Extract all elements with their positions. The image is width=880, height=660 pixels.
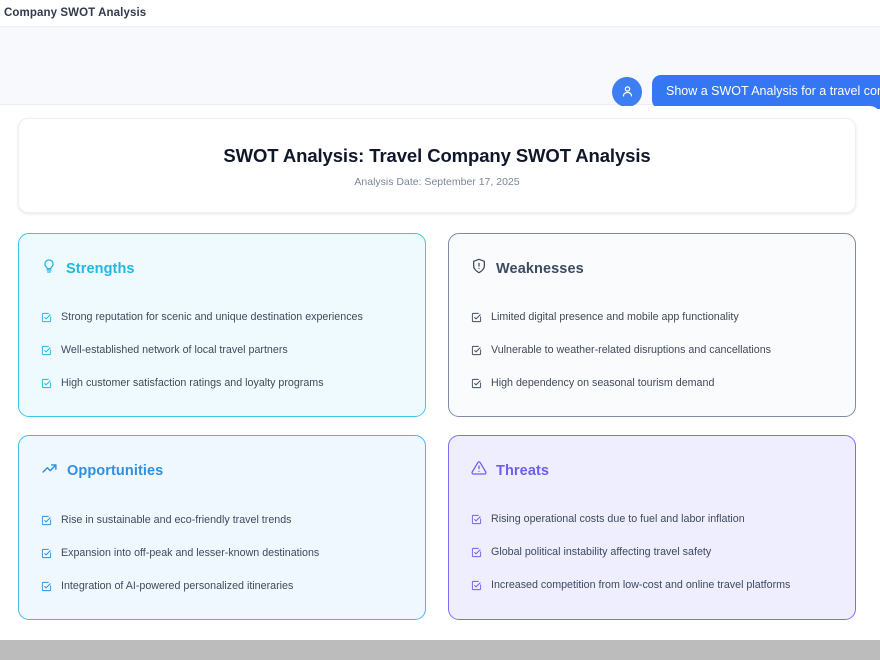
report-date: Analysis Date: September 17, 2025 [39,176,835,188]
quadrant-threats: Threats Rising operational costs due to … [448,435,856,620]
quadrant-header: Opportunities [41,460,403,482]
list-item: Well-established network of local travel… [41,342,403,361]
list-item-text: Integration of AI-powered personalized i… [61,578,293,593]
list-item: Expansion into off-peak and lesser-known… [41,545,403,564]
list-item-text: Expansion into off-peak and lesser-known… [61,545,319,560]
list-item-text: Rise in sustainable and eco-friendly tra… [61,512,292,527]
square-check-icon [41,376,52,394]
square-check-icon [41,343,52,361]
square-check-icon [471,545,482,563]
bottom-bar [0,640,880,660]
quadrant-strengths: Strengths Strong reputation for scenic a… [18,233,426,417]
quadrant-title: Threats [496,463,549,479]
list-item-text: High dependency on seasonal tourism dema… [491,375,714,390]
quadrant-list: Rise in sustainable and eco-friendly tra… [41,512,403,597]
list-item-text: Strong reputation for scenic and unique … [61,309,363,324]
chat-strip: Show a SWOT Analysis for a travel compan… [0,27,880,105]
quadrant-list: Limited digital presence and mobile app … [471,309,833,394]
trending-up-icon [41,460,58,482]
quadrant-opportunities: Opportunities Rise in sustainable and ec… [18,435,426,620]
report-title: SWOT Analysis: Travel Company SWOT Analy… [39,145,835,167]
lightbulb-icon [41,258,57,279]
list-item: Rising operational costs due to fuel and… [471,511,833,530]
list-item: High customer satisfaction ratings and l… [41,375,403,394]
list-item-text: Vulnerable to weather-related disruption… [491,342,771,357]
square-check-icon [471,343,482,361]
report-panel: SWOT Analysis: Travel Company SWOT Analy… [0,106,880,640]
square-check-icon [41,513,52,531]
square-check-icon [471,376,482,394]
square-check-icon [41,579,52,597]
list-item-text: Well-established network of local travel… [61,342,288,357]
swot-grid: Strengths Strong reputation for scenic a… [18,233,856,620]
quadrant-title: Weaknesses [496,261,584,277]
shield-alert-icon [471,258,487,279]
report-title-card: SWOT Analysis: Travel Company SWOT Analy… [18,118,856,213]
list-item-text: Limited digital presence and mobile app … [491,309,739,324]
list-item: Integration of AI-powered personalized i… [41,578,403,597]
quadrant-list: Strong reputation for scenic and unique … [41,309,403,394]
quadrant-header: Threats [471,460,833,481]
list-item: Vulnerable to weather-related disruption… [471,342,833,361]
square-check-icon [471,310,482,328]
triangle-alert-icon [471,460,487,481]
user-message-row: Show a SWOT Analysis for a travel compan… [612,75,880,109]
square-check-icon [471,578,482,596]
quadrant-header: Strengths [41,258,403,279]
list-item-text: Increased competition from low-cost and … [491,577,790,592]
quadrant-list: Rising operational costs due to fuel and… [471,511,833,596]
user-icon [612,77,642,107]
list-item: Increased competition from low-cost and … [471,577,833,596]
list-item: Limited digital presence and mobile app … [471,309,833,328]
list-item: Rise in sustainable and eco-friendly tra… [41,512,403,531]
square-check-icon [41,310,52,328]
quadrant-header: Weaknesses [471,258,833,279]
app-header: Company SWOT Analysis [0,0,880,27]
user-message-bubble: Show a SWOT Analysis for a travel compan… [652,75,880,109]
quadrant-title: Strengths [66,261,135,277]
quadrant-weaknesses: Weaknesses Limited digital presence and … [448,233,856,417]
list-item: High dependency on seasonal tourism dema… [471,375,833,394]
list-item-text: High customer satisfaction ratings and l… [61,375,324,390]
quadrant-title: Opportunities [67,463,163,479]
page-title: Company SWOT Analysis [4,7,146,19]
list-item: Global political instability affecting t… [471,544,833,563]
list-item: Strong reputation for scenic and unique … [41,309,403,328]
square-check-icon [41,546,52,564]
app-window: Company SWOT Analysis Show a SWOT Analys… [0,0,880,660]
list-item-text: Global political instability affecting t… [491,544,711,559]
list-item-text: Rising operational costs due to fuel and… [491,511,745,526]
square-check-icon [471,512,482,530]
